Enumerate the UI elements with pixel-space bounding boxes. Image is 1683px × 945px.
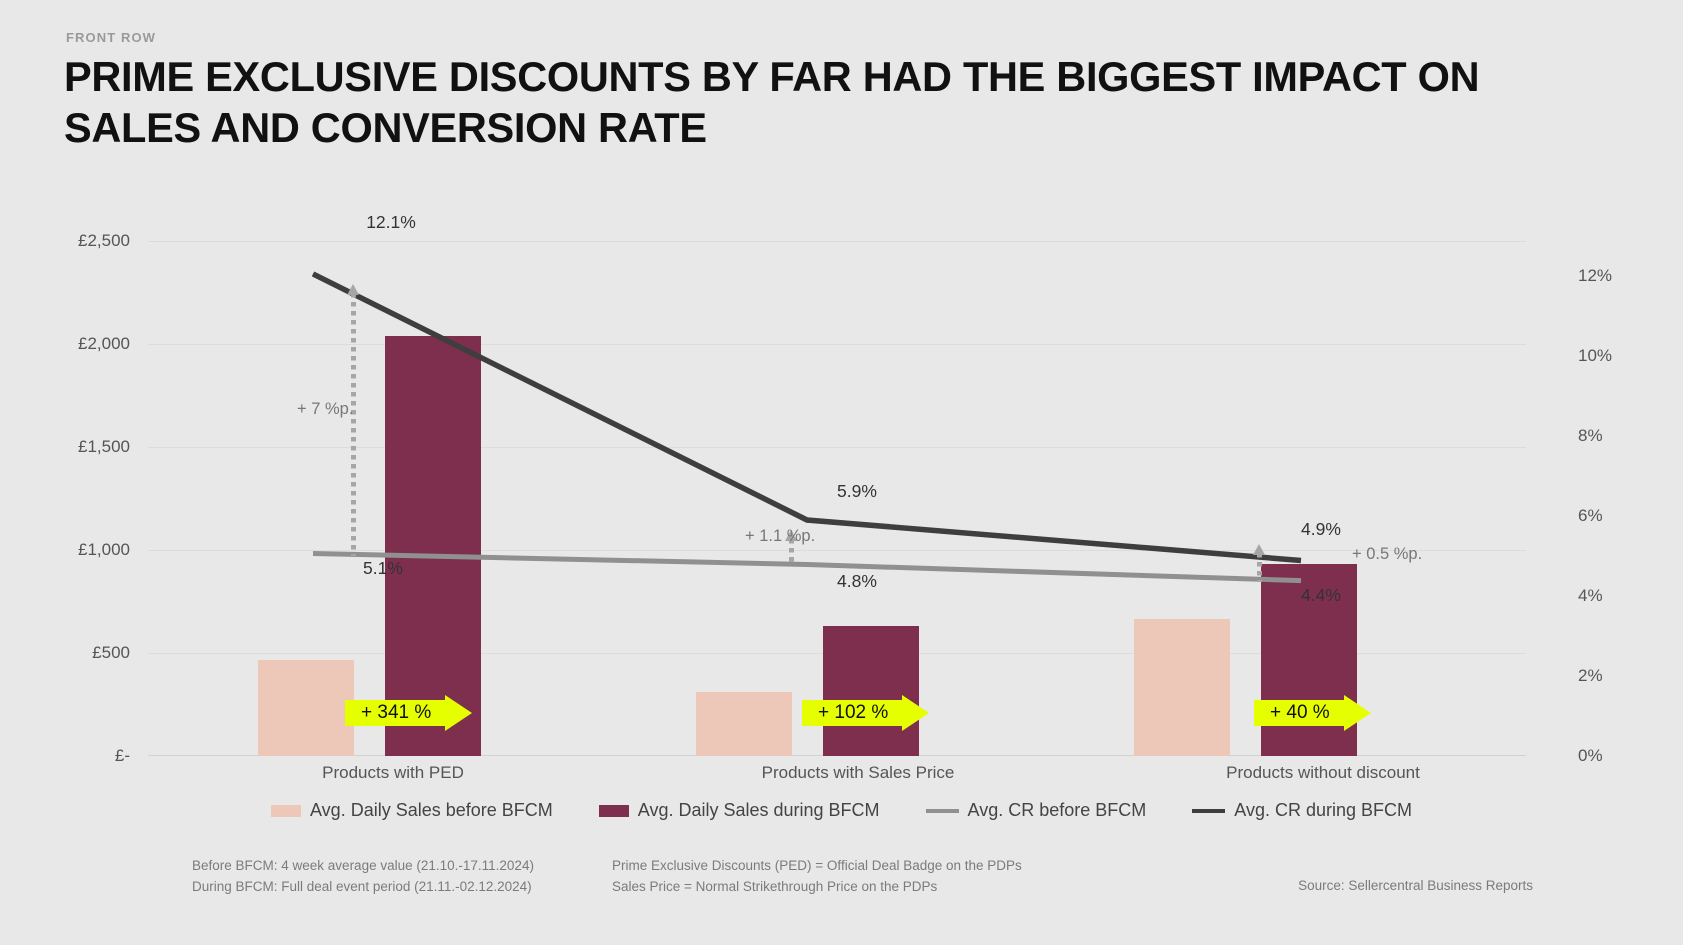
footnote-line: Prime Exclusive Discounts (PED) = Offici… — [612, 856, 1022, 877]
growth-callout[interactable]: + 40 % — [1254, 694, 1371, 731]
delta-label: + 7 %p. — [297, 400, 353, 419]
growth-callout[interactable]: + 102 % — [802, 694, 929, 731]
x-axis-category-label: Products with PED — [322, 763, 464, 783]
page-title: Prime Exclusive Discounts by far had the… — [64, 52, 1624, 153]
slide: FRONT ROW Prime Exclusive Discounts by f… — [0, 0, 1683, 945]
delta-label: + 0.5 %p. — [1352, 545, 1422, 564]
brand-label: FRONT ROW — [66, 30, 156, 45]
footnote-source: Source: Sellercentral Business Reports — [1298, 876, 1533, 897]
y-axis-right-tick: 10% — [1578, 346, 1683, 366]
footnote-period: Before BFCM: 4 week average value (21.10… — [192, 856, 534, 898]
y-axis-left-tick: £2,000 — [20, 334, 130, 354]
footnote-definitions: Prime Exclusive Discounts (PED) = Offici… — [612, 856, 1022, 898]
y-axis-left-tick: £2,500 — [20, 231, 130, 251]
legend-item-sales-during[interactable]: Avg. Daily Sales during BFCM — [599, 800, 880, 821]
y-axis-left-tick: £500 — [20, 643, 130, 663]
arrow-head-icon — [445, 695, 472, 731]
delta-arrow — [350, 284, 357, 556]
cr-before-bfcm-line — [313, 554, 1301, 581]
footnote-line: During BFCM: Full deal event period (21.… — [192, 877, 534, 898]
legend-label: Avg. Daily Sales before BFCM — [310, 800, 553, 821]
y-axis-right-tick: 0% — [1578, 746, 1683, 766]
legend-swatch-icon — [599, 805, 629, 817]
legend-item-cr-before[interactable]: Avg. CR before BFCM — [926, 800, 1147, 821]
y-axis-left-tick: £1,000 — [20, 540, 130, 560]
arrow-head-icon — [1344, 695, 1371, 731]
delta-arrow — [1256, 544, 1263, 582]
arrow-stem — [1257, 553, 1262, 582]
legend-label: Avg. CR before BFCM — [968, 800, 1147, 821]
legend-item-sales-before[interactable]: Avg. Daily Sales before BFCM — [271, 800, 553, 821]
cr-before-label: 4.4% — [1301, 585, 1341, 606]
arrow-stem — [351, 293, 356, 556]
growth-label: + 341 % — [345, 700, 445, 726]
legend-line-icon — [926, 809, 959, 813]
legend-label: Avg. Daily Sales during BFCM — [638, 800, 880, 821]
y-axis-right-tick: 2% — [1578, 666, 1683, 686]
cr-during-bfcm-line — [313, 274, 1301, 561]
growth-label: + 40 % — [1254, 700, 1344, 726]
cr-before-label: 4.8% — [837, 571, 877, 592]
growth-label: + 102 % — [802, 700, 902, 726]
legend-swatch-icon — [271, 805, 301, 817]
x-axis-category-label: Products without discount — [1226, 763, 1420, 783]
delta-label: + 1.1 %p. — [745, 527, 815, 546]
x-axis-category-label: Products with Sales Price — [762, 763, 955, 783]
footnote-line: Before BFCM: 4 week average value (21.10… — [192, 856, 534, 877]
cr-during-label: 4.9% — [1301, 519, 1341, 540]
y-axis-right-tick: 4% — [1578, 586, 1683, 606]
cr-before-label: 5.1% — [363, 558, 403, 579]
y-axis-left-tick: £1,500 — [20, 437, 130, 457]
growth-callout[interactable]: + 341 % — [345, 694, 472, 731]
legend-label: Avg. CR during BFCM — [1234, 800, 1412, 821]
cr-during-label: 12.1% — [366, 212, 416, 233]
chart-legend: Avg. Daily Sales before BFCM Avg. Daily … — [0, 800, 1683, 821]
cr-during-label: 5.9% — [837, 481, 877, 502]
legend-item-cr-during[interactable]: Avg. CR during BFCM — [1192, 800, 1412, 821]
y-axis-right-tick: 8% — [1578, 426, 1683, 446]
footnote-line: Sales Price = Normal Strikethrough Price… — [612, 877, 1022, 898]
arrow-head-icon — [902, 695, 929, 731]
legend-line-icon — [1192, 809, 1225, 813]
y-axis-right-tick: 12% — [1578, 266, 1683, 286]
y-axis-right-tick: 6% — [1578, 506, 1683, 526]
y-axis-left-tick: £- — [20, 746, 130, 766]
